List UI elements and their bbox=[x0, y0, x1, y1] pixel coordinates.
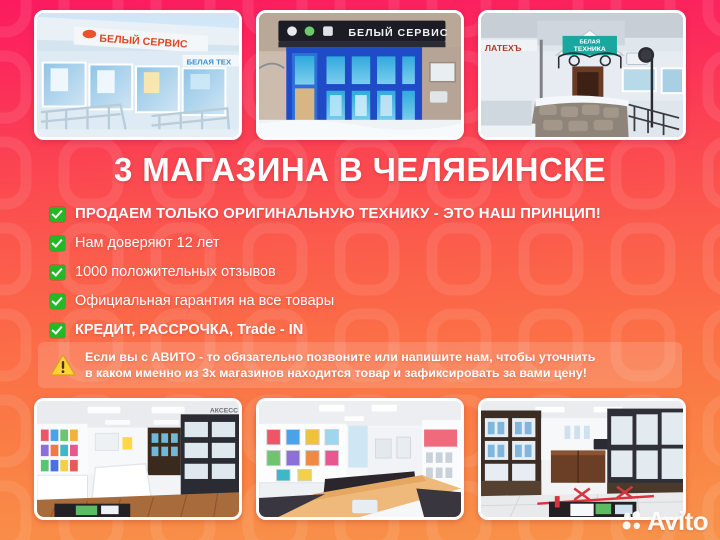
list-item: 1000 положительных отзывов bbox=[50, 260, 690, 284]
list-item: КРЕДИТ, РАССРОЧКА, Trade - IN bbox=[50, 318, 690, 342]
page-title: 3 МАГАЗИНА В ЧЕЛЯБИНСКЕ bbox=[0, 150, 720, 190]
list-item: ПРОДАЕМ ТОЛЬКО ОРИГИНАЛЬНУЮ ТЕХНИКУ - ЭТ… bbox=[50, 202, 690, 226]
benefit-label: КРЕДИТ, РАССРОЧКА, Trade - IN bbox=[75, 320, 303, 340]
list-item: Официальная гарантия на все товары bbox=[50, 289, 690, 313]
svg-text:АКСЕСС: АКСЕСС bbox=[210, 407, 238, 414]
benefit-label: Нам доверяют 12 лет bbox=[75, 233, 219, 253]
svg-text:БЕЛАЯ ТЕХ: БЕЛАЯ ТЕХ bbox=[187, 58, 232, 67]
check-icon bbox=[50, 323, 65, 338]
svg-text:БЕЛАЯ: БЕЛАЯ bbox=[580, 40, 601, 46]
check-icon bbox=[50, 207, 65, 222]
benefit-label: 1000 положительных отзывов bbox=[75, 262, 276, 282]
top-photo-strip: БЕЛЫЙ СЕРВИС БЕЛАЯ ТЕХ bbox=[0, 10, 720, 142]
photo-storefront-beliy-servis-1[interactable]: БЕЛЫЙ СЕРВИС БЕЛАЯ ТЕХ bbox=[34, 10, 242, 140]
svg-text:ТЕХНИКА: ТЕХНИКА bbox=[574, 46, 606, 53]
list-item: Нам доверяют 12 лет bbox=[50, 231, 690, 255]
benefit-label: Официальная гарантия на все товары bbox=[75, 291, 334, 311]
check-icon bbox=[50, 294, 65, 309]
avito-notice-box: Если вы с АВИТО - то обязательно позвони… bbox=[38, 342, 682, 388]
bottom-photo-strip: АКСЕСС bbox=[0, 398, 720, 522]
benefit-label: ПРОДАЕМ ТОЛЬКО ОРИГИНАЛЬНУЮ ТЕХНИКУ - ЭТ… bbox=[75, 204, 601, 224]
photo-shop-interior-3[interactable] bbox=[478, 398, 686, 520]
photo-storefront-belaya-tehnika[interactable]: ЛАТЕХЪ БЕЛАЯ ТЕХНИКА bbox=[478, 10, 686, 140]
svg-text:БЕЛЫЙ СЕРВИС: БЕЛЫЙ СЕРВИС bbox=[348, 26, 448, 39]
notice-line-2: в каком именно из 3х магазинов находится… bbox=[85, 365, 595, 381]
advertisement-banner: БЕЛЫЙ СЕРВИС БЕЛАЯ ТЕХ bbox=[0, 0, 720, 540]
benefits-list: ПРОДАЕМ ТОЛЬКО ОРИГИНАЛЬНУЮ ТЕХНИКУ - ЭТ… bbox=[50, 202, 690, 347]
photo-shop-interior-2[interactable] bbox=[256, 398, 464, 520]
warning-triangle-icon bbox=[50, 353, 76, 377]
check-icon bbox=[50, 236, 65, 251]
photo-storefront-beliy-servis-2[interactable]: БЕЛЫЙ СЕРВИС bbox=[256, 10, 464, 140]
notice-line-1: Если вы с АВИТО - то обязательно позвони… bbox=[85, 349, 595, 365]
photo-shop-interior-1[interactable]: АКСЕСС bbox=[34, 398, 242, 520]
check-icon bbox=[50, 265, 65, 280]
